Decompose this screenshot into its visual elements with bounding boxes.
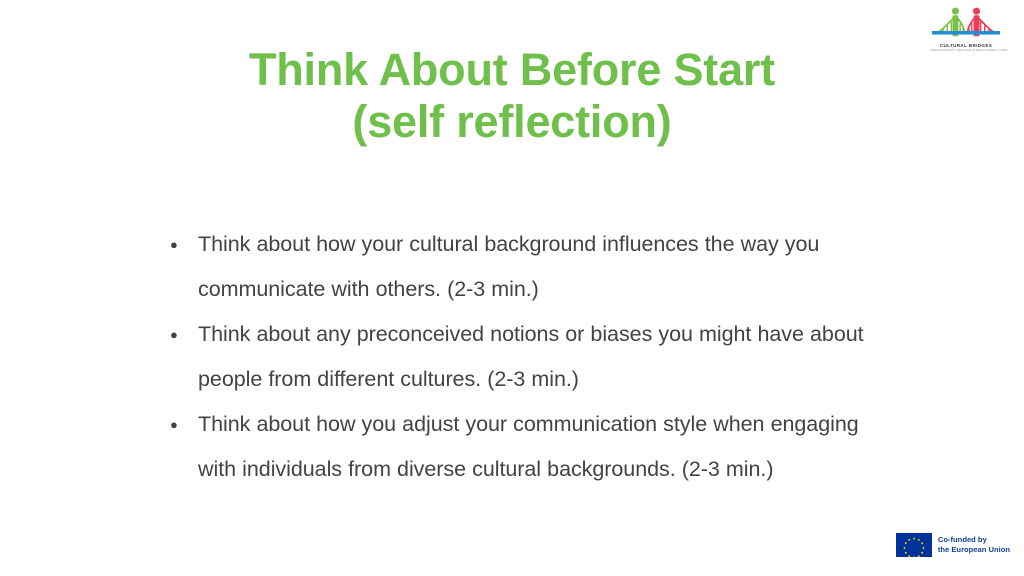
eu-flag-icon: [896, 533, 932, 557]
eu-funding-badge: Co-funded by the European Union: [896, 533, 1010, 557]
slide-canvas: Think About Before Start (self reflectio…: [0, 0, 1024, 576]
bullet-point-icon: [166, 222, 198, 269]
cultural-bridges-logo: CULTURAL BRIDGES CORE DIVERSITY THROUGH …: [930, 7, 1002, 59]
bullet-point-icon: [166, 402, 198, 449]
title-line-2: (self reflection): [0, 96, 1024, 148]
list-item-text: Think about any preconceived notions or …: [198, 312, 876, 402]
list-item: Think about how you adjust your communic…: [166, 402, 876, 492]
eu-funding-line-2: the European Union: [938, 545, 1010, 555]
list-item-text: Think about how your cultural background…: [198, 222, 876, 312]
title-line-1: Think About Before Start: [0, 44, 1024, 96]
bullet-point-icon: [166, 312, 198, 359]
bridge-with-people-icon: [930, 7, 1002, 41]
eu-funding-line-1: Co-funded by: [938, 535, 1010, 545]
bullet-list: Think about how your cultural background…: [166, 222, 876, 492]
list-item: Think about how your cultural background…: [166, 222, 876, 312]
cultural-bridges-logo-tagline: CORE DIVERSITY THROUGH INTERCULTURAL CIT…: [930, 49, 1002, 53]
list-item-text: Think about how you adjust your communic…: [198, 402, 876, 492]
cultural-bridges-logo-name: CULTURAL BRIDGES: [930, 42, 1002, 49]
eu-funding-text: Co-funded by the European Union: [938, 535, 1010, 555]
list-item: Think about any preconceived notions or …: [166, 312, 876, 402]
page-title: Think About Before Start (self reflectio…: [0, 44, 1024, 148]
